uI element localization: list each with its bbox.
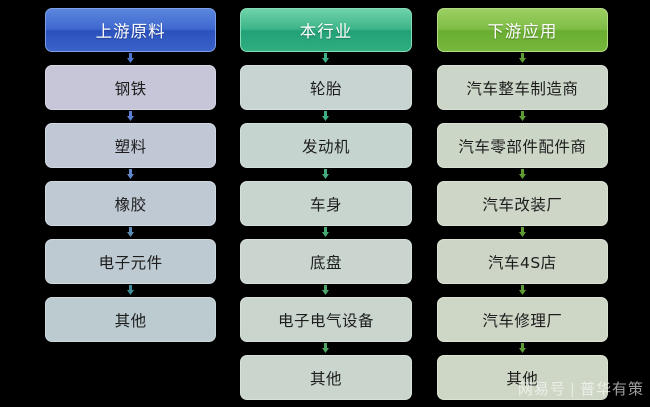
arrow-down-icon xyxy=(240,110,411,123)
arrow-down-icon xyxy=(45,226,216,239)
node-industry-3[interactable]: 底盘 xyxy=(240,239,411,284)
column-downstream: 下游应用 汽车整车制造商 汽车零部件配件商 汽车改装厂 汽车4S店 汽 xyxy=(437,0,608,407)
column-header-label: 本行业 xyxy=(300,18,353,42)
arrow-down-icon xyxy=(437,168,608,181)
arrow-down-icon xyxy=(45,168,216,181)
node-label: 发动机 xyxy=(302,135,350,157)
node-label: 其他 xyxy=(506,367,538,389)
node-downstream-2[interactable]: 汽车改装厂 xyxy=(437,181,608,226)
node-industry-5[interactable]: 其他 xyxy=(240,355,411,400)
node-upstream-3[interactable]: 电子元件 xyxy=(45,239,216,284)
arrow-down-icon xyxy=(437,226,608,239)
column-header-upstream[interactable]: 上游原料 xyxy=(45,8,216,52)
arrow-down-icon xyxy=(437,284,608,297)
arrow-down-icon xyxy=(240,168,411,181)
node-label: 汽车4S店 xyxy=(488,251,557,273)
node-label: 塑料 xyxy=(115,135,147,157)
node-label: 汽车修理厂 xyxy=(482,309,562,331)
column-header-downstream[interactable]: 下游应用 xyxy=(437,8,608,52)
node-upstream-4[interactable]: 其他 xyxy=(45,297,216,342)
arrow-down-icon xyxy=(437,52,608,65)
node-downstream-5[interactable]: 其他 xyxy=(437,355,608,400)
node-label: 电子电气设备 xyxy=(278,309,374,331)
node-label: 汽车零部件配件商 xyxy=(458,135,586,157)
node-industry-0[interactable]: 轮胎 xyxy=(240,65,411,110)
column-upstream: 上游原料 钢铁 塑料 橡胶 电子元件 其他 xyxy=(45,0,216,407)
arrow-down-icon xyxy=(240,342,411,355)
node-label: 轮胎 xyxy=(310,77,342,99)
node-downstream-0[interactable]: 汽车整车制造商 xyxy=(437,65,608,110)
arrow-down-icon xyxy=(45,284,216,297)
node-label: 其他 xyxy=(115,309,147,331)
column-header-label: 下游应用 xyxy=(487,18,557,42)
node-label: 电子元件 xyxy=(99,251,163,273)
column-header-industry[interactable]: 本行业 xyxy=(240,8,411,52)
node-upstream-1[interactable]: 塑料 xyxy=(45,123,216,168)
arrow-down-icon xyxy=(240,226,411,239)
node-industry-1[interactable]: 发动机 xyxy=(240,123,411,168)
arrow-down-icon xyxy=(240,52,411,65)
node-downstream-4[interactable]: 汽车修理厂 xyxy=(437,297,608,342)
node-upstream-2[interactable]: 橡胶 xyxy=(45,181,216,226)
node-label: 橡胶 xyxy=(115,193,147,215)
arrow-down-icon xyxy=(45,52,216,65)
node-industry-2[interactable]: 车身 xyxy=(240,181,411,226)
arrow-down-icon xyxy=(45,110,216,123)
supply-chain-diagram: 上游原料 钢铁 塑料 橡胶 电子元件 其他 xyxy=(0,0,650,407)
arrow-down-icon xyxy=(240,284,411,297)
node-industry-4[interactable]: 电子电气设备 xyxy=(240,297,411,342)
node-label: 钢铁 xyxy=(115,77,147,99)
node-label: 其他 xyxy=(310,367,342,389)
node-downstream-3[interactable]: 汽车4S店 xyxy=(437,239,608,284)
node-label: 汽车整车制造商 xyxy=(466,77,578,99)
node-upstream-0[interactable]: 钢铁 xyxy=(45,65,216,110)
column-industry: 本行业 轮胎 发动机 车身 底盘 电子电气设备 xyxy=(240,0,411,407)
node-label: 车身 xyxy=(310,193,342,215)
node-label: 汽车改装厂 xyxy=(482,193,562,215)
arrow-down-icon xyxy=(437,110,608,123)
node-label: 底盘 xyxy=(310,251,342,273)
node-downstream-1[interactable]: 汽车零部件配件商 xyxy=(437,123,608,168)
arrow-down-icon xyxy=(437,342,608,355)
column-header-label: 上游原料 xyxy=(96,18,166,42)
